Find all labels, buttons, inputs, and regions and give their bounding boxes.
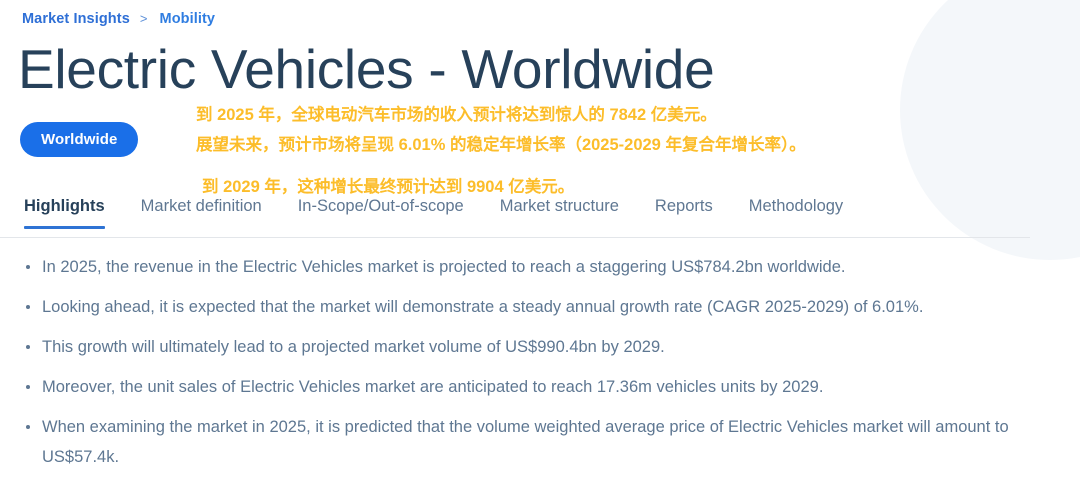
list-item: In 2025, the revenue in the Electric Veh… [24,252,1034,282]
tab-in-scope-out-of-scope[interactable]: In-Scope/Out-of-scope [298,196,464,228]
tab-bar: Highlights Market definition In-Scope/Ou… [0,196,1030,238]
highlights-list: In 2025, the revenue in the Electric Veh… [24,252,1060,482]
breadcrumb: Market Insights > Mobility [22,10,215,28]
market-insights-page: Market Insights > Mobility Electric Vehi… [0,0,1080,484]
annotation-line-3: 到 2029 年，这种增长最终预计达到 9904 亿美元。 [202,174,574,200]
annotation-overlay-chinese: 到 2025 年，全球电动汽车市场的收入预计将达到惊人的 7842 亿美元。 展… [196,100,806,160]
page-title: Electric Vehicles - Worldwide [18,36,714,102]
region-badge-worldwide[interactable]: Worldwide [20,122,138,157]
tab-highlights[interactable]: Highlights [24,196,105,228]
tab-reports[interactable]: Reports [655,196,713,228]
breadcrumb-item-market-insights[interactable]: Market Insights [22,11,130,27]
tab-methodology[interactable]: Methodology [749,196,843,228]
breadcrumb-item-mobility[interactable]: Mobility [160,11,216,27]
tab-market-definition[interactable]: Market definition [141,196,262,228]
tab-market-structure[interactable]: Market structure [500,196,619,228]
list-item: Moreover, the unit sales of Electric Veh… [24,372,1034,402]
list-item: Looking ahead, it is expected that the m… [24,292,1034,322]
annotation-line-1: 到 2025 年，全球电动汽车市场的收入预计将达到惊人的 7842 亿美元。 [196,100,806,130]
list-item: When examining the market in 2025, it is… [24,412,1034,472]
annotation-line-2: 展望未来，预计市场将呈现 6.01% 的稳定年增长率（2025-2029 年复合… [196,130,806,160]
list-item: This growth will ultimately lead to a pr… [24,332,1034,362]
breadcrumb-separator-icon: > [140,11,148,26]
